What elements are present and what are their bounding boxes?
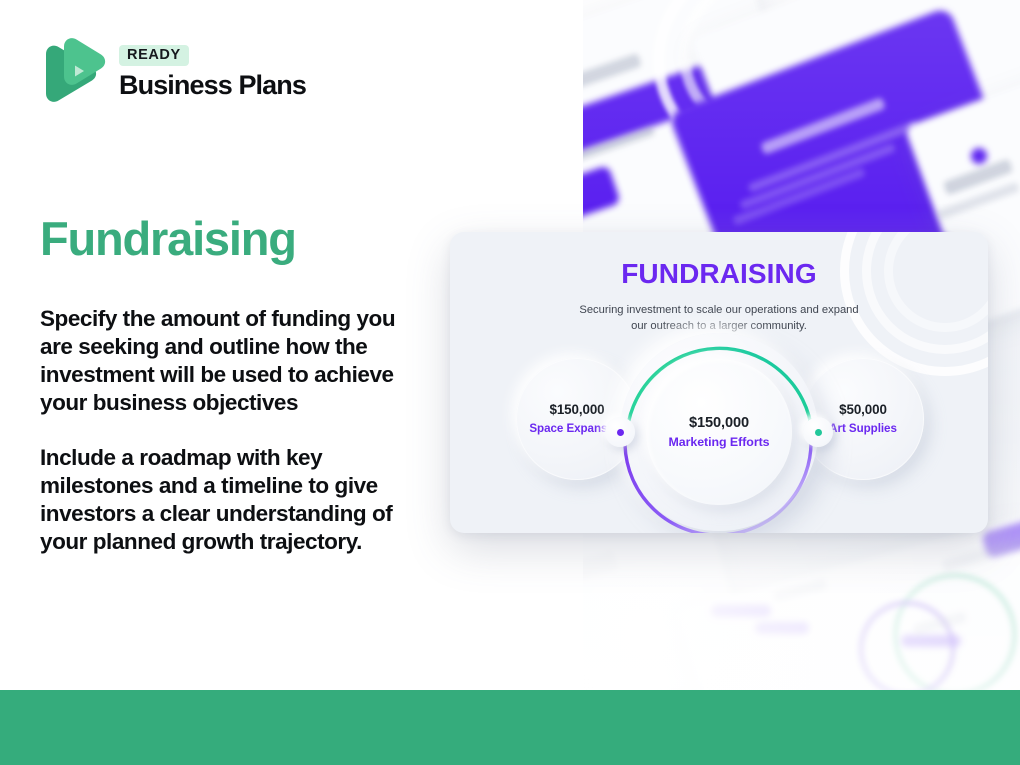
card-title: FUNDRAISING bbox=[450, 258, 988, 290]
amount-value: $50,000 bbox=[839, 402, 887, 419]
amount-label: Marketing Efforts bbox=[668, 435, 769, 451]
paragraph-1: Specify the amount of funding you are se… bbox=[40, 305, 422, 417]
purple-endpoint-dot-icon bbox=[605, 417, 635, 447]
ready-badge: READY bbox=[119, 45, 189, 66]
funding-item-marketing-efforts: $150,000 Marketing Efforts bbox=[620, 333, 818, 531]
amount-value: $150,000 bbox=[689, 414, 749, 432]
play-triangle-logo-icon bbox=[40, 36, 106, 108]
amount-label: Art Supplies bbox=[829, 422, 897, 436]
page-title: Fundraising bbox=[40, 214, 296, 264]
amount-value: $150,000 bbox=[549, 402, 604, 419]
slide-canvas: READY Business Plans Fundraising Specify… bbox=[0, 0, 1020, 765]
paragraph-2: Include a roadmap with key milestones an… bbox=[40, 444, 422, 556]
green-endpoint-dot-icon bbox=[803, 417, 833, 447]
brand-name: Business Plans bbox=[119, 71, 306, 100]
body-copy: Specify the amount of funding you are se… bbox=[40, 305, 422, 556]
fundraising-card: FUNDRAISING Securing investment to scale… bbox=[450, 232, 988, 533]
brand-logo: READY Business Plans bbox=[40, 36, 306, 108]
footer-band bbox=[0, 690, 1020, 765]
funding-ring-group: $150,000 Space Expansion $50,000 Art Sup… bbox=[450, 344, 988, 519]
center-ring-inner: $150,000 Marketing Efforts bbox=[646, 359, 792, 505]
